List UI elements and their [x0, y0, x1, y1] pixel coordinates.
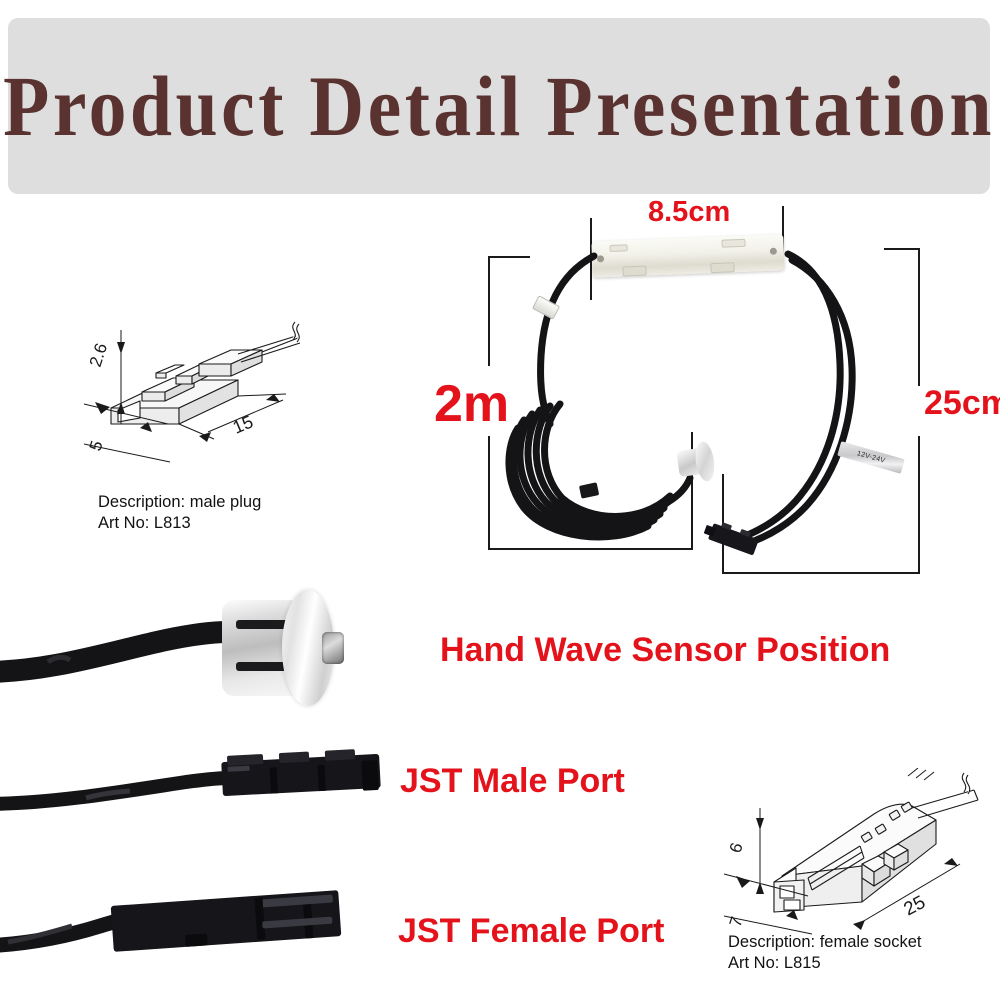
jst-female-rib-top [261, 895, 333, 908]
controller-slot-1 [610, 244, 628, 252]
measure-2m-left [488, 436, 490, 550]
jst-male-photo [0, 748, 390, 848]
controller-grommet-left [597, 255, 604, 262]
measurement-25cm: 25cm [924, 384, 1000, 423]
jst-female-rib-mid [262, 917, 332, 929]
measure-frame-outer-top-right [884, 248, 920, 250]
header-banner: Product Detail Presentation [8, 18, 990, 194]
label-jst-female-port: JST Female Port [398, 912, 664, 951]
inline-connector [532, 295, 560, 320]
sensor-head-slot-1 [236, 620, 288, 629]
sensor-assembly-photo: 12V-24V 8.5cm 2m 25cm [440, 196, 1000, 616]
controller-tab-2 [710, 262, 734, 273]
jst-male-end [361, 760, 379, 791]
spec-label: 12V-24V [837, 441, 905, 474]
sensor-head-small [675, 439, 726, 485]
measure-frame-outer-left [488, 256, 490, 366]
jst-male-tab-2 [279, 752, 309, 764]
jst-female-latch [185, 933, 208, 947]
jst-male-tab-1 [227, 754, 263, 766]
female-socket-drawing: 6 7 25 Description: female socket Art No… [712, 768, 1000, 998]
sensor-head-small-flange [693, 440, 716, 482]
female-dim-width: 7 [726, 914, 747, 929]
measure-25cm-bottom [722, 572, 920, 574]
female-socket-description: Description: female socket [728, 932, 922, 953]
measure-2m-bottom [488, 548, 693, 550]
jst-male-rib [227, 766, 249, 772]
jst-female-photo [0, 880, 390, 990]
measure-frame-outer-top-left [488, 256, 530, 258]
male-dim-width: 5 [86, 438, 107, 453]
product-detail-page: Product Detail Presentation [0, 0, 1000, 1000]
male-plug-art-no: Art No: L813 [98, 513, 191, 534]
jst-male-notch-1 [270, 767, 278, 793]
male-dim-height: 2.6 [86, 341, 111, 369]
male-plug-drawing: 2.6 5 15 Description: male plug Art No: … [48, 302, 378, 502]
sensor-window [322, 632, 344, 664]
jst-male-notch-2 [318, 765, 326, 791]
measurement-2m: 2m [434, 374, 509, 434]
controller-box [591, 234, 784, 277]
female-dim-height: 6 [726, 840, 747, 855]
measure-25cm-right [918, 436, 920, 574]
male-plug-description: Description: male plug [98, 492, 261, 513]
controller-grommet-right [770, 248, 777, 255]
page-title: Product Detail Presentation [67, 18, 931, 194]
controller-slot-2 [721, 239, 745, 248]
measurement-8-5cm: 8.5cm [648, 196, 730, 229]
label-jst-male-port: JST Male Port [400, 762, 625, 801]
sensor-head-slot-2 [236, 662, 288, 671]
label-hand-wave-sensor-position: Hand Wave Sensor Position [440, 631, 890, 670]
male-plug-svg: 2.6 5 15 [48, 302, 378, 502]
jst-male-tab-3 [325, 749, 355, 761]
female-socket-art-no: Art No: L815 [728, 953, 821, 974]
sensor-head-photo [0, 590, 380, 730]
measure-frame-outer-right [918, 248, 920, 386]
male-dim-length: 15 [230, 411, 256, 437]
measure-25cm-left [722, 474, 724, 574]
controller-tab-1 [622, 266, 646, 277]
